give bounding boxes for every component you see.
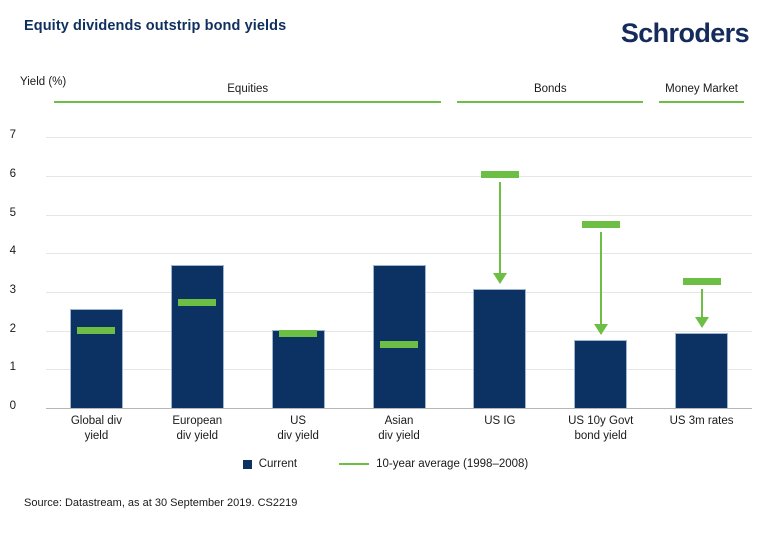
gridline-4 bbox=[46, 253, 752, 254]
chart-legend: Current10-year average (1998–2008) bbox=[0, 458, 771, 470]
bar-us-10y-govt-bond-yield bbox=[574, 340, 627, 408]
gridline-5 bbox=[46, 215, 752, 216]
x-axis-label-line: div yield bbox=[248, 429, 349, 444]
y-axis-tick-label: 4 bbox=[0, 245, 16, 257]
y-axis-tick-label: 2 bbox=[0, 323, 16, 335]
arrow-shaft-us-ig bbox=[499, 182, 501, 273]
y-axis-tick-label: 3 bbox=[0, 284, 16, 296]
arrow-head-us-ig bbox=[493, 273, 507, 284]
x-axis-label: US 3m rates bbox=[651, 414, 752, 429]
legend-item: 10-year average (1998–2008) bbox=[339, 458, 528, 470]
average-marker-global-div-yield bbox=[77, 327, 115, 334]
section-label: Equities bbox=[54, 82, 441, 96]
legend-square-icon bbox=[243, 460, 252, 469]
section-label: Money Market bbox=[659, 82, 744, 96]
x-axis-label: Europeandiv yield bbox=[147, 414, 248, 444]
legend-label: Current bbox=[259, 458, 297, 470]
gridline-7 bbox=[46, 137, 752, 138]
chart-page: Equity dividends outstrip bond yields Sc… bbox=[0, 0, 771, 534]
x-axis-label-line: European bbox=[147, 414, 248, 429]
x-axis-label: US 10y Govtbond yield bbox=[550, 414, 651, 444]
x-axis-label-line: US 3m rates bbox=[651, 414, 752, 429]
bar-asian-div-yield bbox=[373, 265, 426, 408]
bar-us-ig bbox=[473, 289, 526, 408]
x-axis-label-line: div yield bbox=[147, 429, 248, 444]
x-axis-label-line: US bbox=[248, 414, 349, 429]
x-axis-label: Global divyield bbox=[46, 414, 147, 444]
x-axis-label-line: div yield bbox=[349, 429, 450, 444]
x-axis-label: US IG bbox=[449, 414, 550, 429]
x-axis-label-line: Global div bbox=[46, 414, 147, 429]
bar-global-div-yield bbox=[70, 309, 123, 408]
average-marker-us-10y-govt-bond-yield bbox=[582, 221, 620, 228]
average-marker-us-3m-rates bbox=[683, 278, 721, 285]
average-marker-us-div-yield bbox=[279, 330, 317, 337]
x-axis-label-line: US IG bbox=[449, 414, 550, 429]
x-axis-label-line: bond yield bbox=[550, 429, 651, 444]
x-axis-label-line: Asian bbox=[349, 414, 450, 429]
y-axis-tick-label: 1 bbox=[0, 361, 16, 373]
arrow-shaft-us-10y-govt-bond-yield bbox=[600, 232, 602, 323]
section-label: Bonds bbox=[457, 82, 643, 96]
source-note: Source: Datastream, as at 30 September 2… bbox=[24, 497, 297, 509]
schroders-logo: Schroders bbox=[621, 18, 749, 49]
plot-area: 01234567Global divyieldEuropeandiv yield… bbox=[46, 122, 752, 408]
x-axis-label: Asiandiv yield bbox=[349, 414, 450, 444]
section-rule bbox=[54, 101, 441, 103]
y-axis-tick-label: 5 bbox=[0, 207, 16, 219]
bar-us-3m-rates bbox=[675, 333, 728, 408]
gridline-0 bbox=[46, 408, 752, 409]
x-axis-label-line: US 10y Govt bbox=[550, 414, 651, 429]
section-rule bbox=[659, 101, 744, 103]
section-header-equities: Equities bbox=[54, 82, 441, 103]
y-axis-tick-label: 6 bbox=[0, 168, 16, 180]
average-marker-european-div-yield bbox=[178, 299, 216, 306]
section-header-money-market: Money Market bbox=[659, 82, 744, 103]
gridline-6 bbox=[46, 176, 752, 177]
average-marker-us-ig bbox=[481, 171, 519, 178]
legend-item: Current bbox=[243, 458, 297, 470]
bar-european-div-yield bbox=[171, 265, 224, 408]
x-axis-label: USdiv yield bbox=[248, 414, 349, 444]
bar-us-div-yield bbox=[272, 330, 325, 408]
legend-label: 10-year average (1998–2008) bbox=[376, 458, 528, 470]
x-axis-label-line: yield bbox=[46, 429, 147, 444]
page-title: Equity dividends outstrip bond yields bbox=[24, 18, 286, 34]
average-marker-asian-div-yield bbox=[380, 341, 418, 348]
section-header-bonds: Bonds bbox=[457, 82, 643, 103]
arrow-shaft-us-3m-rates bbox=[701, 289, 703, 317]
arrow-head-us-10y-govt-bond-yield bbox=[594, 324, 608, 335]
arrow-head-us-3m-rates bbox=[695, 317, 709, 328]
y-axis-tick-label: 7 bbox=[0, 129, 16, 141]
section-rule bbox=[457, 101, 643, 103]
legend-line-icon bbox=[339, 463, 369, 466]
y-axis-tick-label: 0 bbox=[0, 400, 16, 412]
